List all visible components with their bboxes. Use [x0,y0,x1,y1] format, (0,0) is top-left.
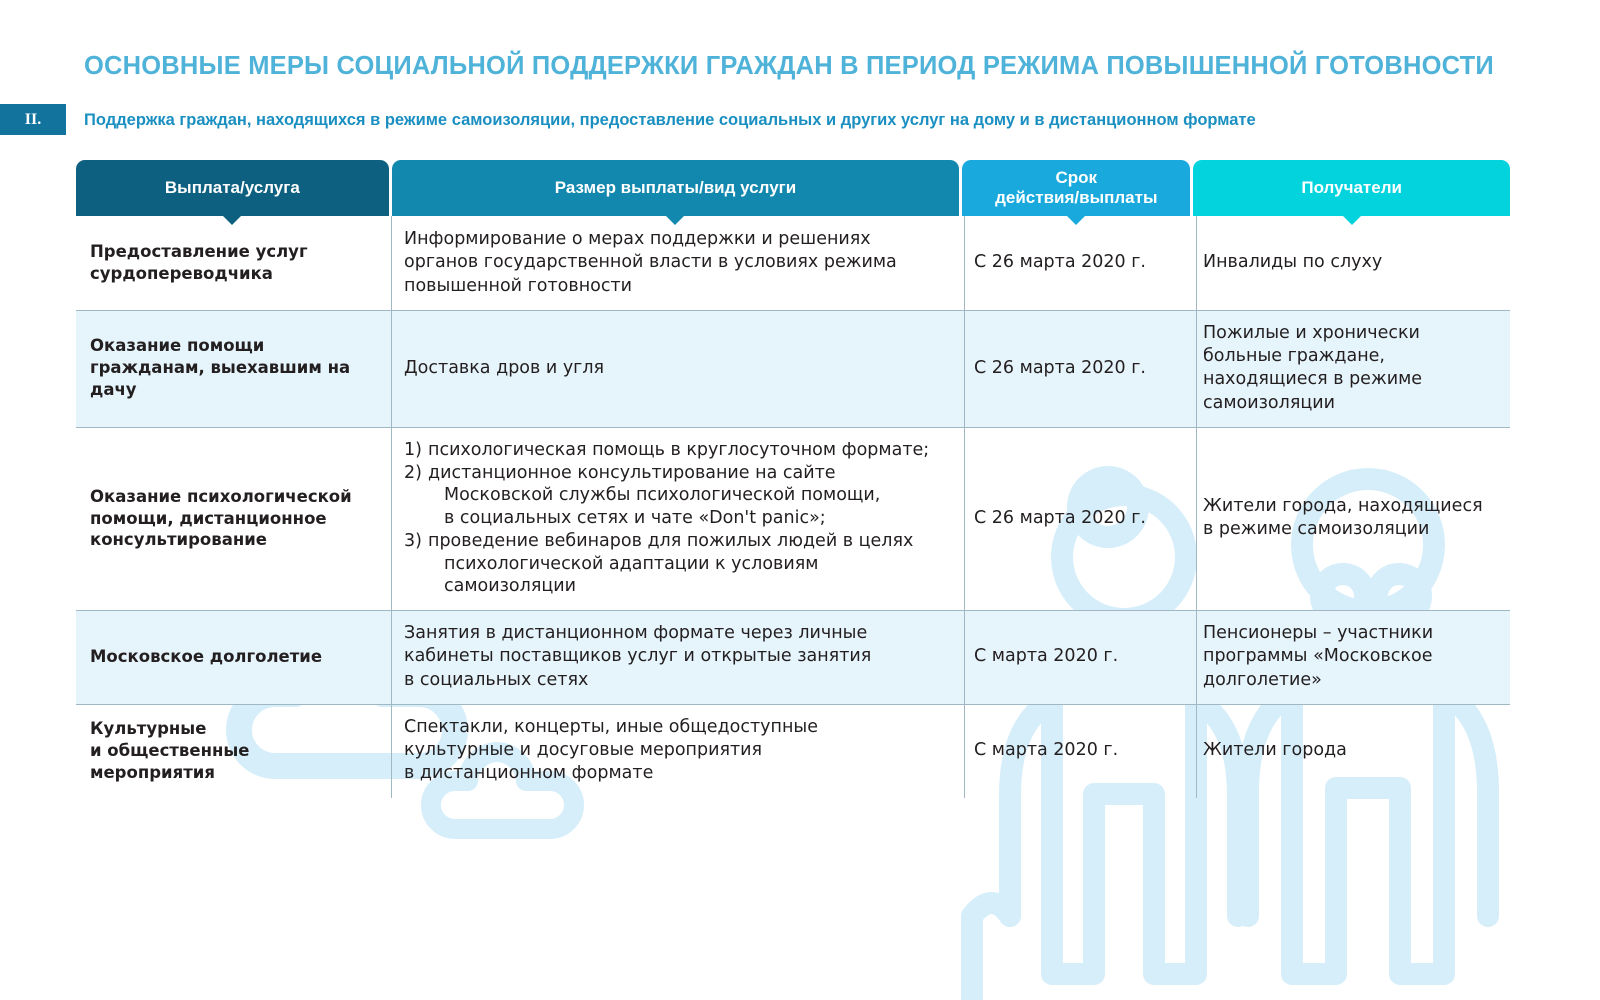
numbered-list: 1)психологическая помощь в круглосуточно… [404,439,946,598]
cell-payment-service: Предоставление услуг сурдопереводчика [76,216,390,310]
period-value: С марта 2020 г. [974,739,1118,762]
period-value: С 26 марта 2020 г. [974,251,1146,274]
list-marker: 3) [404,530,428,553]
cell-recipients: Жители города [1189,704,1507,798]
description-line: кабинеты поставщиков услуг и открытые за… [404,645,946,668]
column-separator [1196,610,1197,704]
table-row: Предоставление услуг сурдопереводчикаИнф… [76,216,1510,310]
service-label: Предоставление услуг сурдопереводчика [90,241,376,285]
column-separator [1196,216,1197,310]
recipient-line: программы «Московское [1203,645,1493,668]
period-value: С марта 2020 г. [974,645,1118,668]
column-header-label: Выплата/услуга [165,178,300,198]
column-header-label-line2: действия/выплаты [995,188,1157,208]
row-separator [76,427,1510,428]
column-separator [964,704,965,798]
numbered-list-item: 2)дистанционное консультирование на сайт… [404,462,946,530]
description-line: Информирование о мерах поддержки и решен… [404,228,946,251]
description-line: Занятия в дистанционном формате через ли… [404,622,946,645]
column-separator [964,427,965,610]
period-value: С 26 марта 2020 г. [974,507,1146,530]
service-label: Оказание помощи гражданам, выехавшим на … [90,335,376,401]
column-separator [391,427,392,610]
column-header-payment-service: Выплата/услуга [76,160,389,216]
column-header-label: Размер выплаты/вид услуги [555,178,796,198]
column-separator [391,704,392,798]
cell-recipients: Пенсионеры – участникипрограммы «Московс… [1189,610,1507,704]
cell-period: С марта 2020 г. [960,704,1189,798]
cell-description: Доставка дров и угля [390,310,960,427]
list-item-line: дистанционное консультирование на сайте [428,462,946,485]
description-line: культурные и досуговые мероприятия [404,739,946,762]
list-marker: 1) [404,439,428,462]
cell-payment-service: Московское долголетие [76,610,390,704]
page-title: ОСНОВНЫЕ МЕРЫ СОЦИАЛЬНОЙ ПОДДЕРЖКИ ГРАЖД… [84,52,1554,81]
cell-payment-service: Оказание помощи гражданам, выехавшим на … [76,310,390,427]
cell-description: Занятия в дистанционном формате через ли… [390,610,960,704]
recipient-line: долголетие» [1203,669,1493,692]
description-line: в дистанционном формате [404,762,946,785]
cell-recipients: Пожилые и хроническибольные граждане,нах… [1189,310,1507,427]
section-number-badge: II. [0,104,66,135]
column-separator [1196,310,1197,427]
recipient-line: находящиеся в режиме [1203,368,1493,391]
table-row: Оказание психологической помощи, дистанц… [76,427,1510,610]
list-item-line: проведение вебинаров для пожилых людей в… [428,530,946,553]
service-line: мероприятия [90,762,376,784]
description-line: повышенной готовности [404,275,946,298]
list-item-text: психологическая помощь в круглосуточном … [428,439,946,462]
column-header-recipients: Получатели [1193,160,1510,216]
cell-recipients: Жители города, находящиесяв режиме самои… [1189,427,1507,610]
recipient-line: Жители города [1203,739,1493,762]
list-marker: 2) [404,462,428,485]
list-item-text: дистанционное консультирование на сайтеМ… [428,462,946,530]
table-row: Культурныеи общественныемероприятияСпект… [76,704,1510,798]
service-line: Культурные [90,718,376,740]
support-measures-table: Выплата/услуга Размер выплаты/вид услуги… [76,160,1510,798]
column-header-period: Срок действия/выплаты [962,160,1190,216]
description-line: в социальных сетях [404,669,946,692]
column-separator [964,216,965,310]
column-separator [1196,704,1197,798]
recipient-line: в режиме самоизоляции [1203,518,1493,541]
list-item-line: Московской службы психологической помощи… [428,484,946,507]
cell-payment-service: Оказание психологической помощи, дистанц… [76,427,390,610]
description-line: Спектакли, концерты, иные общедоступные [404,716,946,739]
row-separator [76,704,1510,705]
recipient-line: Пенсионеры – участники [1203,622,1493,645]
numbered-list-item: 3)проведение вебинаров для пожилых людей… [404,530,946,598]
section-subtitle: Поддержка граждан, находящихся в режиме … [84,111,1554,130]
description-line: Доставка дров и угля [404,357,946,380]
column-separator [391,216,392,310]
cell-recipients: Инвалиды по слуху [1189,216,1507,310]
table-body: Предоставление услуг сурдопереводчикаИнф… [76,216,1510,798]
column-header-label-line1: Срок [995,168,1157,188]
table-header-row: Выплата/услуга Размер выплаты/вид услуги… [76,160,1510,216]
service-label: Московское долголетие [90,646,322,668]
cell-period: С марта 2020 г. [960,610,1189,704]
recipient-line: больные граждане, [1203,345,1493,368]
recipient-line: Жители города, находящиеся [1203,495,1493,518]
cell-period: С 26 марта 2020 г. [960,427,1189,610]
row-separator [76,310,1510,311]
cell-payment-service: Культурныеи общественныемероприятия [76,704,390,798]
table-row: Московское долголетиеЗанятия в дистанцио… [76,610,1510,704]
column-separator [391,310,392,427]
column-separator [964,310,965,427]
cell-description: Спектакли, концерты, иные общедоступныек… [390,704,960,798]
slide-page: ОСНОВНЫЕ МЕРЫ СОЦИАЛЬНОЙ ПОДДЕРЖКИ ГРАЖД… [0,0,1600,1000]
column-header-label: Получатели [1301,178,1402,198]
list-item-line: психологическая помощь в круглосуточном … [428,439,946,462]
list-item-line: в социальных сетях и чате «Don't panic»; [428,507,946,530]
list-item-text: проведение вебинаров для пожилых людей в… [428,530,946,598]
column-separator [1196,427,1197,610]
service-line: и общественные [90,740,376,762]
row-separator [76,610,1510,611]
column-separator [391,610,392,704]
description-line: органов государственной власти в условия… [404,251,946,274]
column-separator [964,610,965,704]
column-header-amount-type: Размер выплаты/вид услуги [392,160,960,216]
numbered-list-item: 1)психологическая помощь в круглосуточно… [404,439,946,462]
recipient-line: самоизоляции [1203,392,1493,415]
service-label: Оказание психологической помощи, дистанц… [90,486,376,552]
cell-description: Информирование о мерах поддержки и решен… [390,216,960,310]
list-item-line: психологической адаптации к условиям сам… [428,553,946,599]
period-value: С 26 марта 2020 г. [974,357,1146,380]
table-row: Оказание помощи гражданам, выехавшим на … [76,310,1510,427]
recipient-line: Пожилые и хронически [1203,322,1493,345]
recipient-line: Инвалиды по слуху [1203,251,1493,274]
cell-period: С 26 марта 2020 г. [960,216,1189,310]
cell-period: С 26 марта 2020 г. [960,310,1189,427]
cell-description: 1)психологическая помощь в круглосуточно… [390,427,960,610]
